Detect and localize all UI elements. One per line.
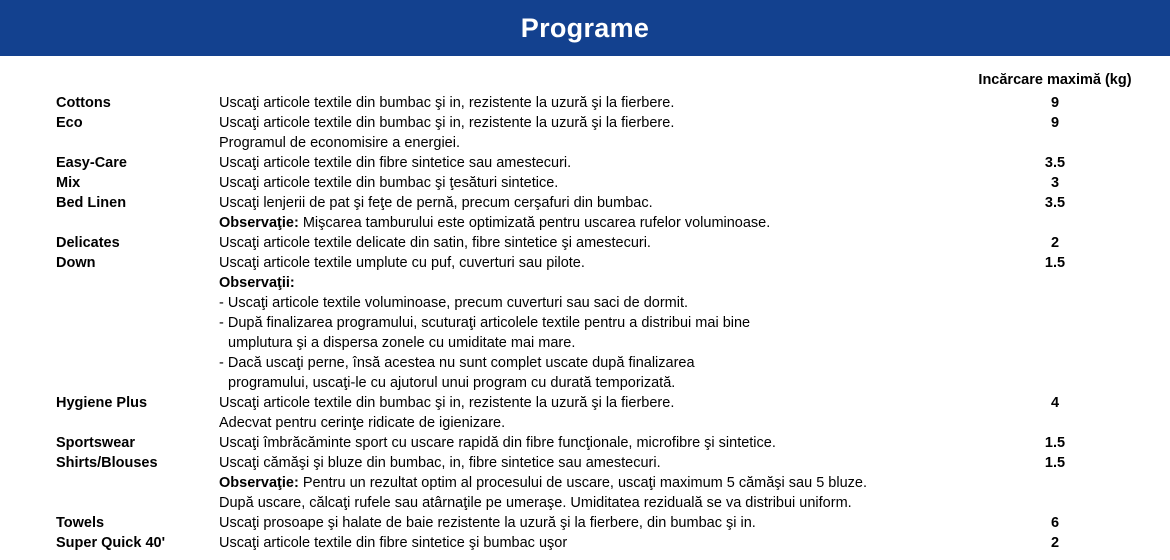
table-row: Super Quick 40'Uscaţi articole textile d…	[0, 533, 1170, 553]
program-description: Uscaţi cămăşi şi bluze din bumbac, in, f…	[219, 453, 959, 473]
table-row: - După finalizarea programului, scuturaţ…	[0, 313, 1170, 333]
program-description: Uscaţi articole textile din fibre sintet…	[219, 153, 959, 173]
page-header-bar: Programe	[0, 0, 1170, 56]
program-name: Mix	[56, 173, 216, 193]
table-row: Adecvat pentru cerinţe ridicate de igien…	[0, 413, 1170, 433]
description-note-text: Pentru un rezultat optim al procesului d…	[299, 475, 867, 491]
max-load-value: 1.5	[965, 433, 1145, 453]
table-row: - Dacă uscaţi perne, însă acestea nu sun…	[0, 353, 1170, 373]
programs-row-list: CottonsUscaţi articole textile din bumba…	[0, 93, 1170, 553]
description-note-label: Observaţie:	[219, 475, 299, 491]
table-row: MixUscaţi articole textile din bumbac şi…	[0, 173, 1170, 193]
program-description: programului, uscaţi-le cu ajutorul unui …	[228, 373, 968, 393]
max-load-value: 3.5	[965, 153, 1145, 173]
max-load-value: 3.5	[965, 193, 1145, 213]
max-load-value: 2	[965, 533, 1145, 553]
table-row: Hygiene PlusUscaţi articole textile din …	[0, 393, 1170, 413]
programs-page: Programe Incărcare maximă (kg) CottonsUs…	[0, 0, 1170, 560]
max-load-value: 9	[965, 93, 1145, 113]
program-description: Adecvat pentru cerinţe ridicate de igien…	[219, 413, 959, 433]
max-load-value: 1.5	[965, 453, 1145, 473]
program-description: Uscaţi articole textile din bumbac şi in…	[219, 393, 959, 413]
program-name: Cottons	[56, 93, 216, 113]
program-name: Down	[56, 253, 216, 273]
table-row: - Uscaţi articole textile voluminoase, p…	[0, 293, 1170, 313]
max-load-value: 1.5	[965, 253, 1145, 273]
table-row: Bed LinenUscaţi lenjerii de pat şi feţe …	[0, 193, 1170, 213]
table-row: Shirts/BlousesUscaţi cămăşi şi bluze din…	[0, 453, 1170, 473]
table-row: DownUscaţi articole textile umplute cu p…	[0, 253, 1170, 273]
program-description: - Dacă uscaţi perne, însă acestea nu sun…	[219, 353, 959, 373]
table-row: După uscare, călcaţi rufele sau atârnaţi…	[0, 493, 1170, 513]
table-row: TowelsUscaţi prosoape şi halate de baie …	[0, 513, 1170, 533]
program-name: Super Quick 40'	[56, 533, 216, 553]
program-description: Uscaţi articole textile din bumbac şi in…	[219, 113, 959, 133]
description-note-label: Observaţie:	[219, 215, 299, 231]
max-load-value: 9	[965, 113, 1145, 133]
page-title: Programe	[521, 15, 649, 42]
table-row: DelicatesUscaţi articole textile delicat…	[0, 233, 1170, 253]
table-row: programului, uscaţi-le cu ajutorul unui …	[0, 373, 1170, 393]
program-description: Observaţii:	[219, 273, 959, 293]
table-row: Observaţie: Pentru un rezultat optim al …	[0, 473, 1170, 493]
max-load-value: 3	[965, 173, 1145, 193]
program-name: Towels	[56, 513, 216, 533]
max-load-value: 2	[965, 233, 1145, 253]
program-description: Programul de economisire a energiei.	[219, 133, 959, 153]
max-load-value: 6	[965, 513, 1145, 533]
table-row: Observaţie: Mişcarea tamburului este opt…	[0, 213, 1170, 233]
table-row: CottonsUscaţi articole textile din bumba…	[0, 93, 1170, 113]
program-description: umplutura şi a dispersa zonele cu umidit…	[228, 333, 968, 353]
table-row: SportswearUscaţi îmbrăcăminte sport cu u…	[0, 433, 1170, 453]
program-description: Uscaţi articole textile din fibre sintet…	[219, 533, 959, 553]
program-description: Uscaţi articole textile din bumbac şi ţe…	[219, 173, 959, 193]
program-description: Uscaţi lenjerii de pat şi feţe de pernă,…	[219, 193, 959, 213]
program-description: Uscaţi articole textile din bumbac şi in…	[219, 93, 959, 113]
table-row: Programul de economisire a energiei.	[0, 133, 1170, 153]
program-name: Sportswear	[56, 433, 216, 453]
program-description: - După finalizarea programului, scuturaţ…	[219, 313, 959, 333]
program-description: Uscaţi prosoape şi halate de baie rezist…	[219, 513, 959, 533]
program-name: Bed Linen	[56, 193, 216, 213]
program-description: Observaţie: Mişcarea tamburului este opt…	[219, 213, 959, 233]
program-name: Easy-Care	[56, 153, 216, 173]
table-row: EcoUscaţi articole textile din bumbac şi…	[0, 113, 1170, 133]
program-description: Uscaţi îmbrăcăminte sport cu uscare rapi…	[219, 433, 959, 453]
max-load-value: 4	[965, 393, 1145, 413]
programs-table: Incărcare maximă (kg) CottonsUscaţi arti…	[0, 56, 1170, 560]
description-note-text: Mişcarea tamburului este optimizată pent…	[299, 215, 770, 231]
table-row: Observaţii:	[0, 273, 1170, 293]
load-column-header: Incărcare maximă (kg)	[965, 73, 1145, 88]
program-description: - Uscaţi articole textile voluminoase, p…	[219, 293, 959, 313]
program-description: Uscaţi articole textile delicate din sat…	[219, 233, 959, 253]
program-description: Observaţie: Pentru un rezultat optim al …	[219, 473, 959, 493]
table-row: umplutura şi a dispersa zonele cu umidit…	[0, 333, 1170, 353]
table-row: Easy-CareUscaţi articole textile din fib…	[0, 153, 1170, 173]
program-name: Hygiene Plus	[56, 393, 216, 413]
program-name: Shirts/Blouses	[56, 453, 216, 473]
description-note-label: Observaţii:	[219, 275, 295, 291]
program-name: Eco	[56, 113, 216, 133]
program-description: Uscaţi articole textile umplute cu puf, …	[219, 253, 959, 273]
program-description: După uscare, călcaţi rufele sau atârnaţi…	[219, 493, 959, 513]
program-name: Delicates	[56, 233, 216, 253]
